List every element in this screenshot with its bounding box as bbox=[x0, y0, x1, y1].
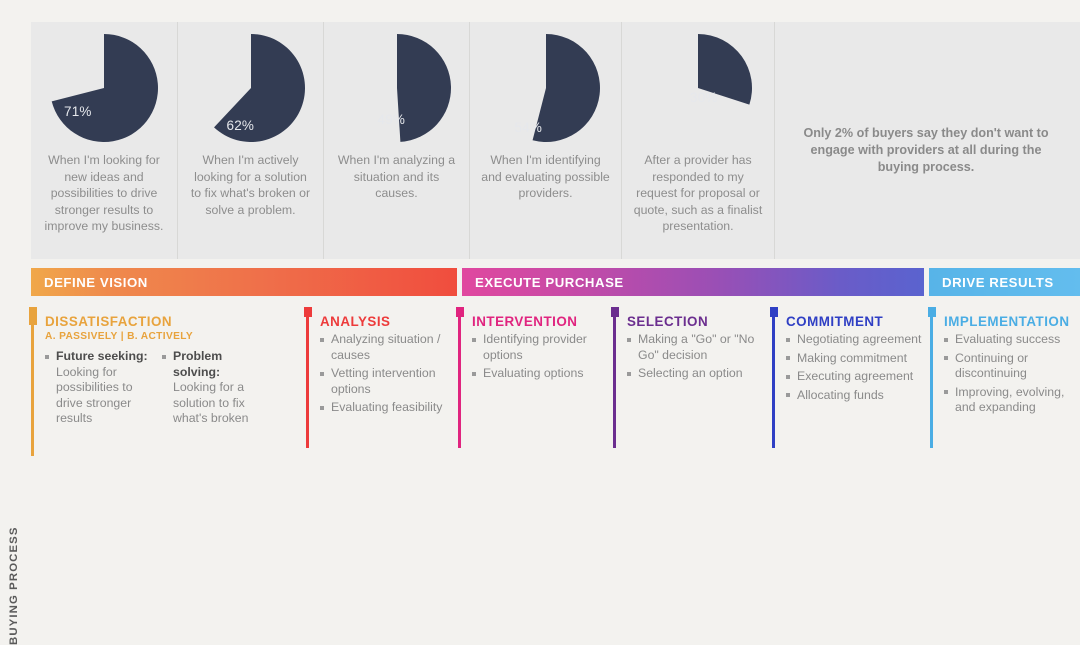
list-item-lead: Problem solving: bbox=[173, 349, 222, 379]
stage-body: IMPLEMENTATIONEvaluating successContinui… bbox=[944, 314, 1076, 419]
phase-execute-purchase[interactable]: EXECUTE PURCHASE bbox=[462, 268, 924, 296]
list-item-text: Selecting an option bbox=[638, 366, 743, 380]
bullet-square-icon bbox=[786, 338, 790, 342]
infographic-root: 71%When I'm looking for new ideas and po… bbox=[0, 0, 1080, 471]
stage-subcolumns: Future seeking:Looking for possibilities… bbox=[45, 346, 299, 430]
stage-title: SELECTION bbox=[627, 314, 765, 329]
list-item-text: Evaluating success bbox=[955, 332, 1060, 346]
stage-stem bbox=[930, 313, 933, 448]
bullet-square-icon bbox=[320, 372, 324, 376]
pie-caption: When I'm identifying and evaluating poss… bbox=[470, 152, 621, 202]
stage-row: DISSATISFACTIONA. PASSIVELY | B. ACTIVEL… bbox=[0, 307, 1080, 471]
bullet-square-icon bbox=[944, 338, 948, 342]
stage-body: SELECTIONMaking a "Go" or "No Go" decisi… bbox=[627, 314, 765, 385]
bullet-square-icon bbox=[472, 338, 476, 342]
stage-stem-cap-icon bbox=[770, 307, 778, 317]
list-item-text: Negotiating agreement bbox=[797, 332, 921, 346]
list-item: Evaluating success bbox=[944, 332, 1076, 348]
list-item: Analyzing situation / causes bbox=[320, 332, 451, 363]
stage-commitment[interactable]: COMMITMENTNegotiating agreementMaking co… bbox=[772, 307, 922, 465]
pie-slice bbox=[532, 34, 599, 142]
stage-title: DISSATISFACTION bbox=[45, 314, 299, 329]
phase-gradient-bar: DEFINE VISION EXECUTE PURCHASE DRIVE RES… bbox=[0, 268, 1080, 296]
list-item-text: Improving, evolving, and expanding bbox=[955, 385, 1064, 415]
list-item-text: Allocating funds bbox=[797, 388, 884, 402]
list-item-text: Continuing or discontinuing bbox=[955, 351, 1028, 381]
phase-label: DEFINE VISION bbox=[44, 275, 148, 290]
bullet-square-icon bbox=[45, 355, 49, 359]
stage-stem bbox=[458, 313, 461, 448]
phase-define-vision[interactable]: DEFINE VISION bbox=[31, 268, 457, 296]
stage-stem-cap-icon bbox=[611, 307, 619, 317]
bullet-square-icon bbox=[162, 355, 166, 359]
pie-chart: 62% bbox=[197, 34, 305, 142]
stage-stem bbox=[772, 313, 775, 448]
bullet-square-icon bbox=[944, 356, 948, 360]
phase-label: EXECUTE PURCHASE bbox=[475, 275, 624, 290]
bullet-square-icon bbox=[320, 406, 324, 410]
bullet-square-icon bbox=[786, 356, 790, 360]
bullet-square-icon bbox=[320, 338, 324, 342]
list-item-text: Analyzing situation / causes bbox=[331, 332, 440, 362]
bullet-list: Future seeking:Looking for possibilities… bbox=[45, 349, 152, 427]
list-item: Problem solving:Looking for a solution t… bbox=[162, 349, 269, 427]
pie-card: 54%When I'm identifying and evaluating p… bbox=[470, 22, 622, 259]
list-item: Improving, evolving, and expanding bbox=[944, 385, 1076, 416]
bullet-list: Analyzing situation / causesVetting inte… bbox=[320, 332, 451, 416]
pie-slice bbox=[698, 34, 752, 105]
list-item: Executing agreement bbox=[786, 369, 922, 385]
pie-chart: 49% bbox=[343, 34, 451, 142]
bullet-list: Negotiating agreementMaking commitmentEx… bbox=[786, 332, 922, 403]
pie-card: 71%When I'm looking for new ideas and po… bbox=[31, 22, 178, 259]
stage-stem bbox=[613, 313, 616, 448]
stage-subcolumn: Future seeking:Looking for possibilities… bbox=[45, 346, 152, 430]
stage-analysis[interactable]: ANALYSISAnalyzing situation / causesVett… bbox=[306, 307, 451, 465]
stage-implementation[interactable]: IMPLEMENTATIONEvaluating successContinui… bbox=[930, 307, 1076, 465]
pie-card: 49%When I'm analyzing a situation and it… bbox=[324, 22, 470, 259]
stage-stem-cap-icon bbox=[304, 307, 312, 317]
phase-label: DRIVE RESULTS bbox=[942, 275, 1054, 290]
pie-caption: When I'm actively looking for a solution… bbox=[178, 152, 323, 218]
list-item: Continuing or discontinuing bbox=[944, 351, 1076, 382]
stage-subcolumn: Problem solving:Looking for a solution t… bbox=[162, 346, 269, 430]
bullet-square-icon bbox=[786, 375, 790, 379]
list-item-text: Looking for possibilities to drive stron… bbox=[56, 365, 133, 426]
pie-chart: 54% bbox=[492, 34, 600, 142]
list-item: Negotiating agreement bbox=[786, 332, 922, 348]
stage-intervention[interactable]: INTERVENTIONIdentifying provider options… bbox=[458, 307, 606, 465]
stage-body: DISSATISFACTIONA. PASSIVELY | B. ACTIVEL… bbox=[45, 314, 299, 430]
list-item: Identifying provider options bbox=[472, 332, 606, 363]
pie-card-row: 71%When I'm looking for new ideas and po… bbox=[31, 22, 775, 259]
stage-title: INTERVENTION bbox=[472, 314, 606, 329]
pie-caption: After a provider has responded to my req… bbox=[622, 152, 774, 235]
list-item: Selecting an option bbox=[627, 366, 765, 382]
stage-selection[interactable]: SELECTIONMaking a "Go" or "No Go" decisi… bbox=[613, 307, 765, 465]
list-item-lead: Future seeking: bbox=[56, 349, 148, 363]
bullet-square-icon bbox=[627, 372, 631, 376]
pie-chart: 71% bbox=[50, 34, 158, 142]
stage-title: ANALYSIS bbox=[320, 314, 451, 329]
pie-chart: 30% bbox=[644, 34, 752, 142]
list-item-text: Executing agreement bbox=[797, 369, 913, 383]
list-item: Evaluating options bbox=[472, 366, 606, 382]
list-item: Making a "Go" or "No Go" decision bbox=[627, 332, 765, 363]
list-item-text: Evaluating feasibility bbox=[331, 400, 442, 414]
stage-body: ANALYSISAnalyzing situation / causesVett… bbox=[320, 314, 451, 419]
list-item-text: Identifying provider options bbox=[483, 332, 587, 362]
engagement-note: Only 2% of buyers say they don't want to… bbox=[790, 125, 1062, 176]
stage-stem-cap-icon bbox=[29, 307, 37, 317]
stage-body: INTERVENTIONIdentifying provider options… bbox=[472, 314, 606, 385]
stage-body: COMMITMENTNegotiating agreementMaking co… bbox=[786, 314, 922, 406]
list-item: Evaluating feasibility bbox=[320, 400, 451, 416]
list-item-text: Looking for a solution to fix what's bro… bbox=[173, 380, 249, 425]
stage-stem-cap-icon bbox=[456, 307, 464, 317]
list-item: Vetting intervention options bbox=[320, 366, 451, 397]
stage-subtitle: A. PASSIVELY | B. ACTIVELY bbox=[45, 331, 299, 342]
list-item: Future seeking:Looking for possibilities… bbox=[45, 349, 152, 427]
list-item-text: Vetting intervention options bbox=[331, 366, 436, 396]
phase-drive-results[interactable]: DRIVE RESULTS bbox=[929, 268, 1080, 296]
pie-card: 62%When I'm actively looking for a solut… bbox=[178, 22, 324, 259]
stage-stem bbox=[31, 313, 34, 448]
pie-slice bbox=[214, 34, 305, 142]
list-item-text: Making a "Go" or "No Go" decision bbox=[638, 332, 754, 362]
list-item: Making commitment bbox=[786, 351, 922, 367]
bullet-square-icon bbox=[786, 393, 790, 397]
list-item-text: Making commitment bbox=[797, 351, 907, 365]
bullet-square-icon bbox=[627, 338, 631, 342]
stage-stem bbox=[306, 313, 309, 448]
bullet-list: Problem solving:Looking for a solution t… bbox=[162, 349, 269, 427]
pie-caption: When I'm looking for new ideas and possi… bbox=[31, 152, 177, 235]
list-item-text: Evaluating options bbox=[483, 366, 584, 380]
bullet-square-icon bbox=[944, 390, 948, 394]
stage-stem-cap-icon bbox=[928, 307, 936, 317]
bullet-list: Making a "Go" or "No Go" decisionSelecti… bbox=[627, 332, 765, 382]
pie-slice bbox=[397, 34, 451, 142]
stage-title: COMMITMENT bbox=[786, 314, 922, 329]
pie-card: 30%After a provider has responded to my … bbox=[622, 22, 775, 259]
buying-process-label: BUYING PROCESS bbox=[8, 525, 20, 645]
bullet-list: Identifying provider optionsEvaluating o… bbox=[472, 332, 606, 382]
list-item: Allocating funds bbox=[786, 388, 922, 404]
bullet-list: Evaluating successContinuing or disconti… bbox=[944, 332, 1076, 416]
stage-dissatisfaction[interactable]: DISSATISFACTIONA. PASSIVELY | B. ACTIVEL… bbox=[31, 307, 299, 465]
stage-title: IMPLEMENTATION bbox=[944, 314, 1076, 329]
pie-slice bbox=[52, 34, 158, 142]
pie-caption: When I'm analyzing a situation and its c… bbox=[324, 152, 469, 202]
bullet-square-icon bbox=[472, 372, 476, 376]
